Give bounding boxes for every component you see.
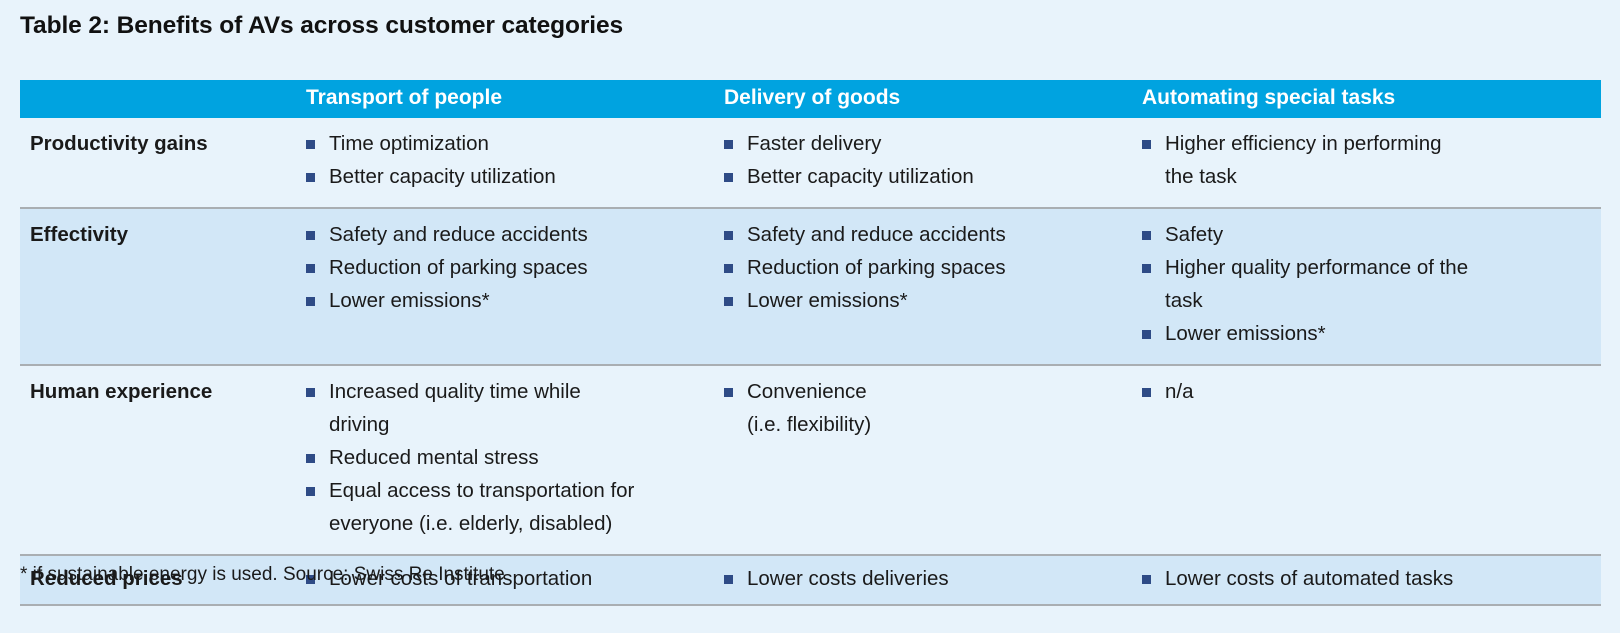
list-item: Convenience(i.e. flexibility) (721, 375, 1139, 441)
page-title: Table 2: Benefits of AVs across customer… (20, 12, 623, 40)
list-item-text: Time optimization (329, 132, 489, 155)
bullet-square-icon (306, 264, 315, 273)
list-item-text: Better capacity utilization (329, 165, 556, 188)
list-item-text-continuation: driving (329, 408, 721, 441)
list-item-text: Lower emissions* (329, 289, 490, 312)
bullet-square-icon (306, 297, 315, 306)
bullet-list: Lower costs deliveries (721, 562, 1139, 595)
list-item-text: Lower costs of automated tasks (1165, 567, 1453, 590)
cell-tasks: SafetyHigher quality performance of thet… (1139, 208, 1601, 365)
list-item: Faster delivery (721, 127, 1139, 160)
list-item: Reduced mental stress (303, 441, 721, 474)
column-header-delivery-of-goods: Delivery of goods (721, 80, 1139, 118)
cell-goods: Lower costs deliveries (721, 555, 1139, 605)
list-item: Equal access to transportation foreveryo… (303, 474, 721, 540)
column-header-transport-of-people: Transport of people (303, 80, 721, 118)
bullet-list: n/a (1139, 375, 1601, 408)
list-item: Lower emissions* (721, 284, 1139, 317)
list-item-text: Increased quality time while (329, 380, 581, 403)
bullet-list: Time optimizationBetter capacity utiliza… (303, 127, 721, 193)
bullet-square-icon (306, 454, 315, 463)
bullet-square-icon (1142, 140, 1151, 149)
bullet-square-icon (1142, 264, 1151, 273)
cell-tasks: Higher efficiency in performingthe task (1139, 118, 1601, 208)
list-item-text: Lower costs deliveries (747, 567, 949, 590)
table-body: Productivity gainsTime optimizationBette… (20, 118, 1601, 605)
list-item-text-continuation: task (1165, 284, 1601, 317)
list-item: Better capacity utilization (721, 160, 1139, 193)
list-item-text: Higher quality performance of the (1165, 256, 1468, 279)
list-item: Lower emissions* (1139, 317, 1601, 350)
list-item: Higher efficiency in performingthe task (1139, 127, 1601, 193)
list-item-text: Safety and reduce accidents (747, 223, 1006, 246)
list-item-text-continuation: everyone (i.e. elderly, disabled) (329, 507, 721, 540)
bullet-square-icon (724, 140, 733, 149)
bullet-square-icon (306, 487, 315, 496)
bullet-list: Safety and reduce accidentsReduction of … (721, 218, 1139, 317)
list-item: Increased quality time whiledriving (303, 375, 721, 441)
list-item-text: Reduced mental stress (329, 446, 539, 469)
list-item-text: Higher efficiency in performing (1165, 132, 1442, 155)
list-item: Better capacity utilization (303, 160, 721, 193)
bullet-list: Faster deliveryBetter capacity utilizati… (721, 127, 1139, 193)
list-item: Safety and reduce accidents (303, 218, 721, 251)
bullet-square-icon (306, 173, 315, 182)
table-row: EffectivitySafety and reduce accidentsRe… (20, 208, 1601, 365)
table-header-row: Transport of people Delivery of goods Au… (20, 80, 1601, 118)
cell-people: Time optimizationBetter capacity utiliza… (303, 118, 721, 208)
bullet-square-icon (724, 388, 733, 397)
column-header-automating-special-tasks: Automating special tasks (1139, 80, 1601, 118)
list-item: n/a (1139, 375, 1601, 408)
cell-goods: Convenience(i.e. flexibility) (721, 365, 1139, 555)
list-item-text: Reduction of parking spaces (747, 256, 1006, 279)
list-item: Reduction of parking spaces (303, 251, 721, 284)
cell-tasks: n/a (1139, 365, 1601, 555)
list-item: Safety and reduce accidents (721, 218, 1139, 251)
cell-tasks: Lower costs of automated tasks (1139, 555, 1601, 605)
list-item: Safety (1139, 218, 1601, 251)
table-row: Productivity gainsTime optimizationBette… (20, 118, 1601, 208)
row-category-label: Productivity gains (20, 118, 303, 208)
bullet-square-icon (306, 388, 315, 397)
bullet-square-icon (1142, 231, 1151, 240)
bullet-square-icon (306, 140, 315, 149)
list-item: Lower costs of automated tasks (1139, 562, 1601, 595)
list-item-text: Lower emissions* (747, 289, 908, 312)
bullet-square-icon (1142, 388, 1151, 397)
list-item: Higher quality performance of thetask (1139, 251, 1601, 317)
bullet-square-icon (1142, 575, 1151, 584)
bullet-square-icon (724, 264, 733, 273)
cell-goods: Faster deliveryBetter capacity utilizati… (721, 118, 1139, 208)
cell-people: Safety and reduce accidentsReduction of … (303, 208, 721, 365)
bullet-square-icon (724, 575, 733, 584)
table-page: Table 2: Benefits of AVs across customer… (0, 0, 1620, 633)
list-item-text: Safety (1165, 223, 1223, 246)
list-item-text: Equal access to transportation for (329, 479, 634, 502)
bullet-list: Convenience(i.e. flexibility) (721, 375, 1139, 441)
column-header-category (20, 80, 303, 118)
list-item: Lower emissions* (303, 284, 721, 317)
list-item-text: Faster delivery (747, 132, 881, 155)
list-item: Reduction of parking spaces (721, 251, 1139, 284)
bullet-list: Increased quality time whiledrivingReduc… (303, 375, 721, 540)
row-category-label: Human experience (20, 365, 303, 555)
bullet-square-icon (724, 173, 733, 182)
list-item-text-continuation: the task (1165, 160, 1601, 193)
list-item-text: n/a (1165, 380, 1194, 403)
benefits-table: Transport of people Delivery of goods Au… (20, 80, 1601, 606)
row-category-label: Effectivity (20, 208, 303, 365)
bullet-list: SafetyHigher quality performance of thet… (1139, 218, 1601, 350)
list-item-text: Reduction of parking spaces (329, 256, 588, 279)
list-item-text: Safety and reduce accidents (329, 223, 588, 246)
list-item-text-continuation: (i.e. flexibility) (747, 408, 1139, 441)
table-row: Human experienceIncreased quality time w… (20, 365, 1601, 555)
list-item-text: Better capacity utilization (747, 165, 974, 188)
list-item: Time optimization (303, 127, 721, 160)
bullet-list: Higher efficiency in performingthe task (1139, 127, 1601, 193)
bullet-list: Lower costs of automated tasks (1139, 562, 1601, 595)
bullet-square-icon (724, 297, 733, 306)
bullet-square-icon (724, 231, 733, 240)
list-item-text: Convenience (747, 380, 867, 403)
bullet-square-icon (306, 231, 315, 240)
bullet-square-icon (1142, 330, 1151, 339)
table-header: Transport of people Delivery of goods Au… (20, 80, 1601, 118)
cell-people: Increased quality time whiledrivingReduc… (303, 365, 721, 555)
bullet-list: Safety and reduce accidentsReduction of … (303, 218, 721, 317)
cell-goods: Safety and reduce accidentsReduction of … (721, 208, 1139, 365)
list-item: Lower costs deliveries (721, 562, 1139, 595)
table-footnote: * if sustainable energy is used. Source:… (20, 564, 505, 586)
list-item-text: Lower emissions* (1165, 322, 1326, 345)
